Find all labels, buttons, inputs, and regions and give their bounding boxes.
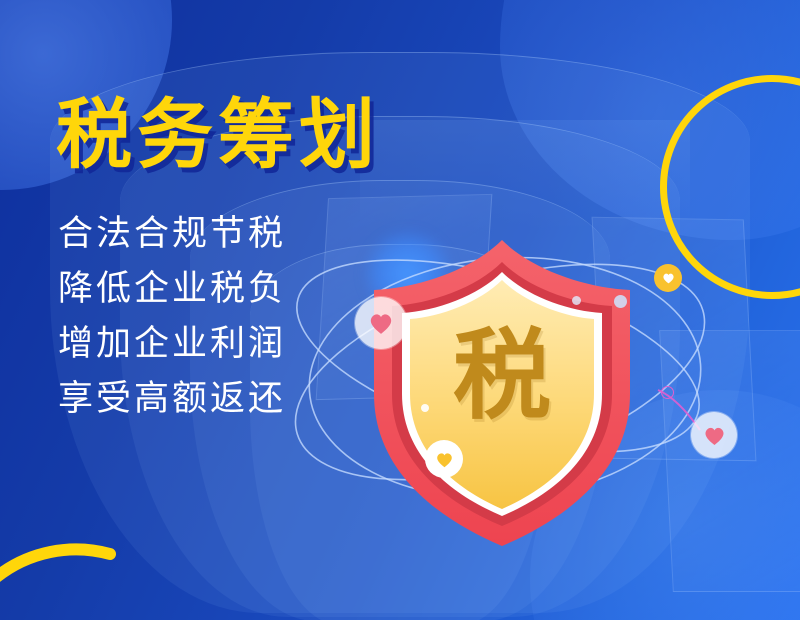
orbit-dot-1 xyxy=(421,404,429,412)
subheading-list: 合法合规节税 降低企业税负 增加企业利润 享受高额返还 xyxy=(58,216,358,436)
heart-icon xyxy=(435,451,454,468)
heart-icon xyxy=(662,272,675,284)
heart-badge-gold xyxy=(654,264,682,292)
small-pink-ring-icon xyxy=(661,386,674,399)
tax-planning-banner: 税 税务筹划 合法合规节税 降低企业税负 增加企业利润 享受高额返还 xyxy=(0,0,800,620)
subheading-item-3: 增加企业利润 xyxy=(58,326,358,361)
heart-badge-right xyxy=(691,412,737,458)
heart-badge-bottom xyxy=(425,440,463,478)
orbit-dot-3 xyxy=(572,296,581,305)
orbit-dot-2 xyxy=(614,295,627,308)
subheading-item-1: 合法合规节税 xyxy=(58,216,358,251)
heart-icon xyxy=(703,425,726,446)
subheading-item-4: 享受高额返还 xyxy=(58,381,358,416)
page-title: 税务筹划 xyxy=(56,98,380,174)
subheading-item-2: 降低企业税负 xyxy=(58,271,358,306)
heart-badge-left xyxy=(355,297,407,349)
heart-icon xyxy=(368,311,394,335)
tax-shield-graphic: 税 xyxy=(352,238,652,538)
